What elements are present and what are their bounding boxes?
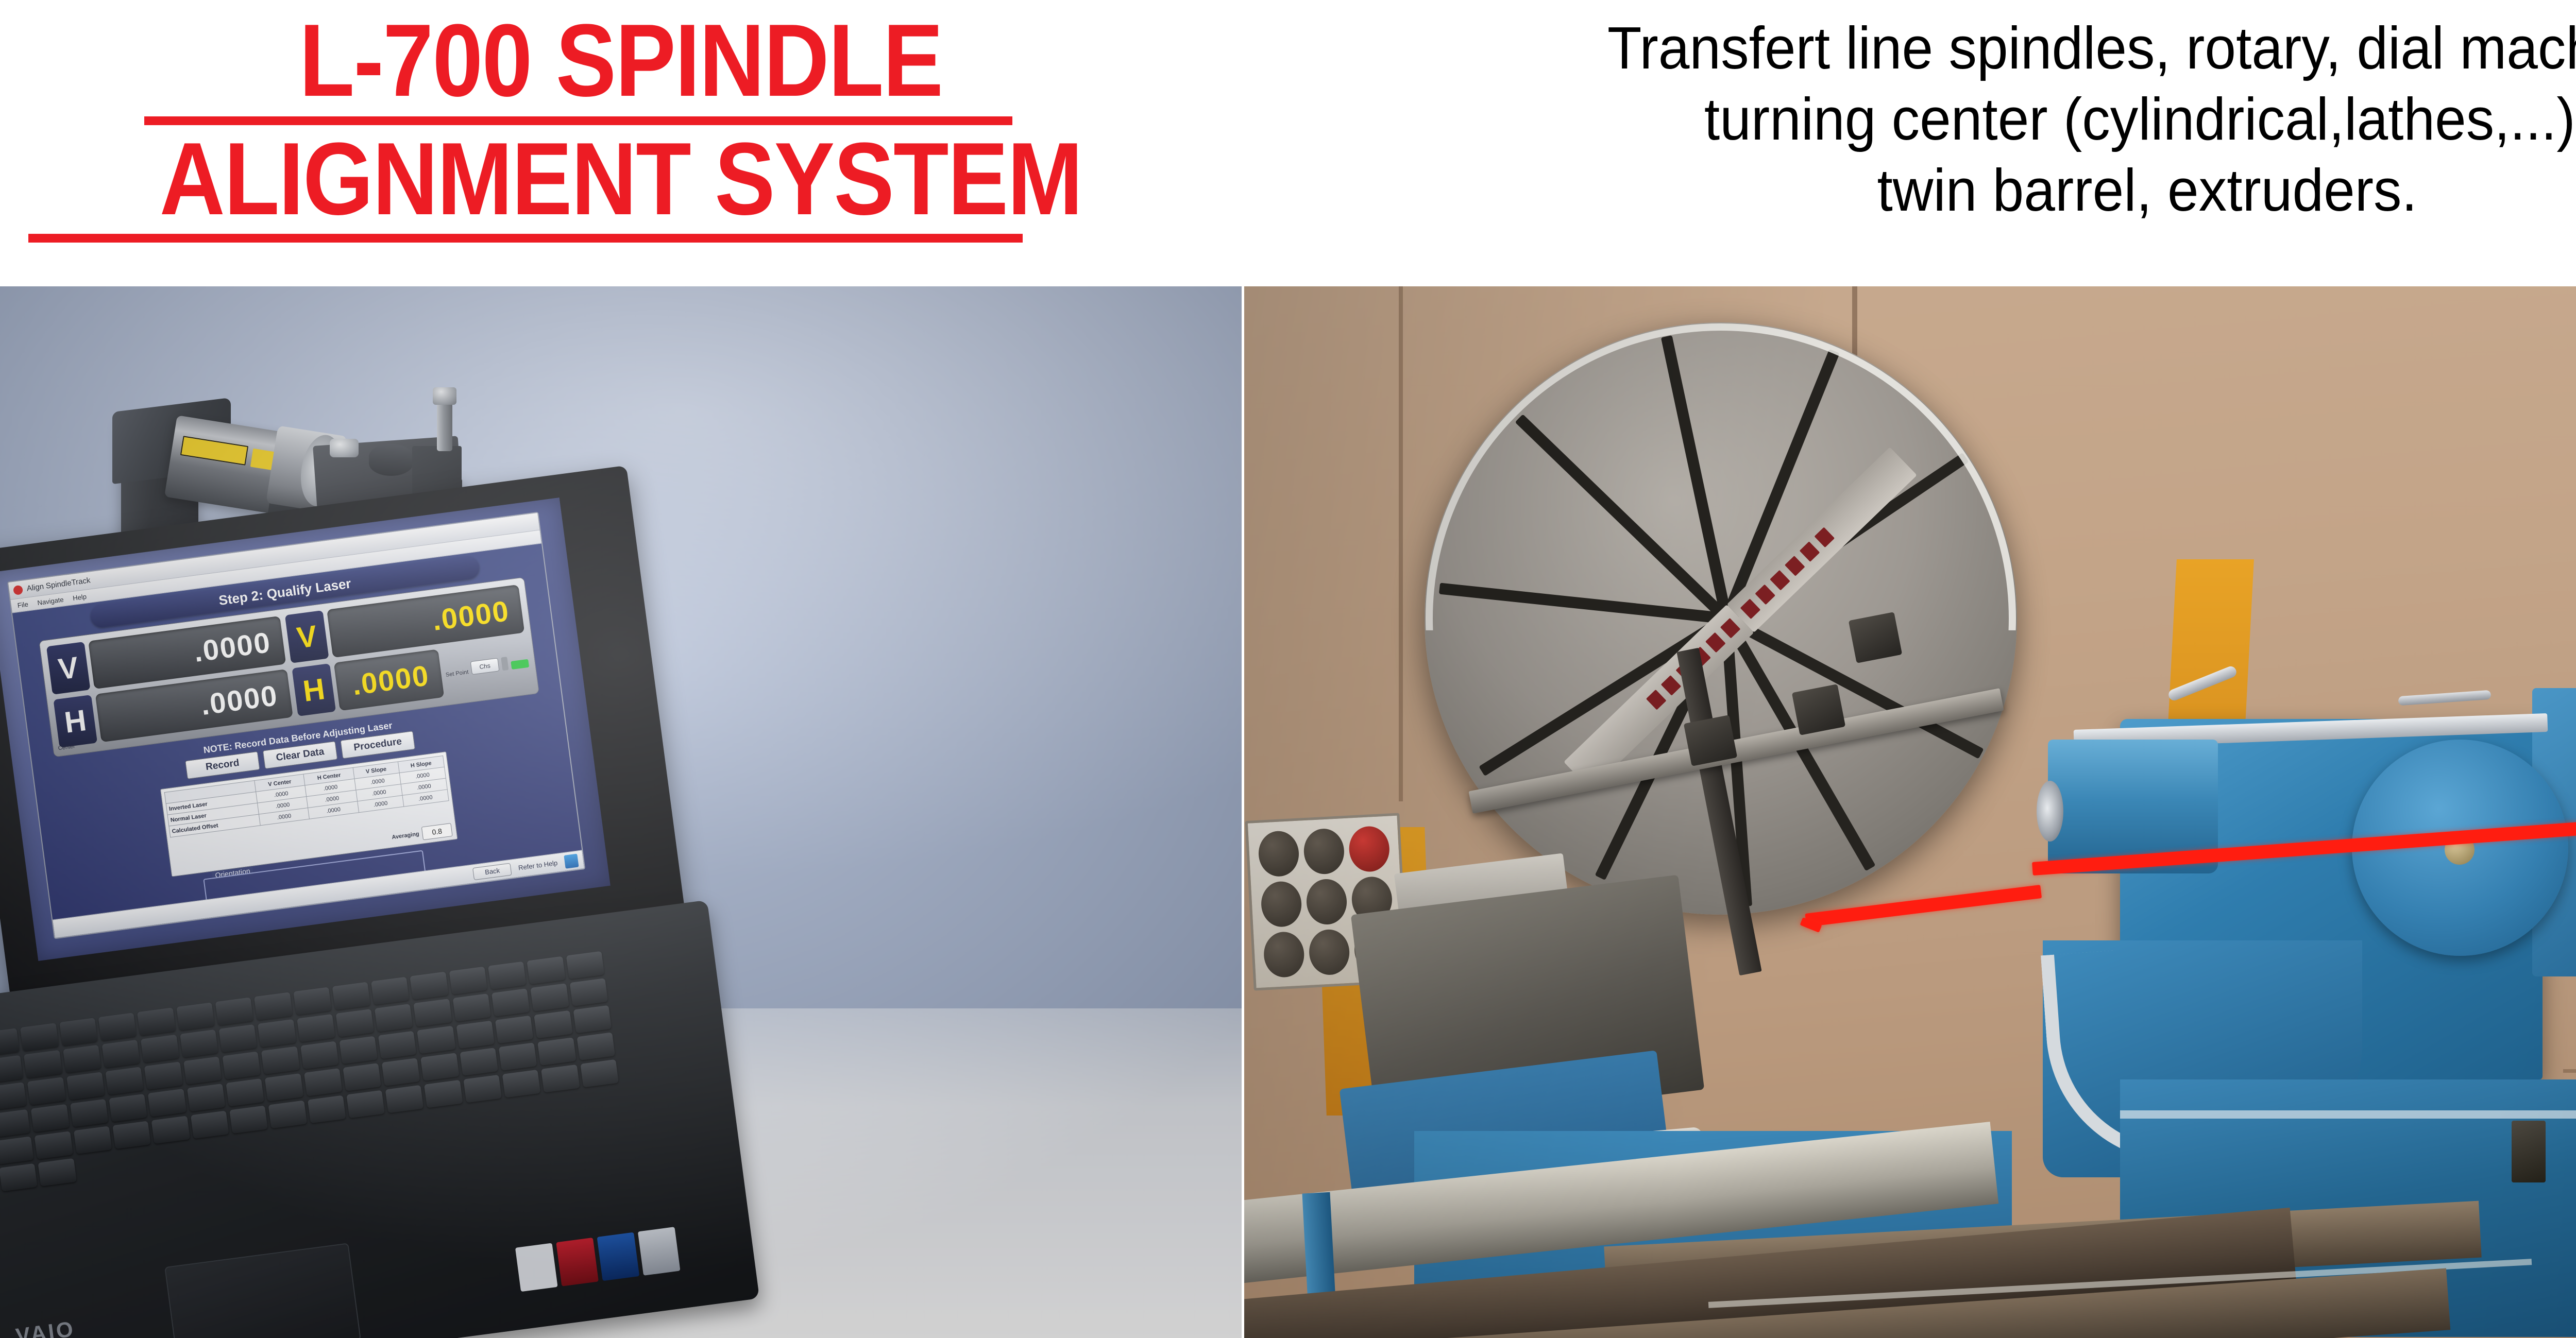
photo-shading-overlay [1244, 286, 2576, 1338]
studio-vignette [0, 286, 1242, 1338]
product-photo-left: Align SpindleTrack File Navigate Help St… [0, 286, 1242, 1338]
application-photo-right [1244, 286, 2576, 1338]
header-band: L-700 SPINDLE ALIGNMENT SYSTEM Transfert… [0, 0, 2576, 286]
subtitle-line-2: turning center (cylindrical,lathes,...), [1704, 83, 2576, 155]
subtitle-line-3: twin barrel, extruders. [1877, 155, 2417, 226]
title-underline-2 [28, 234, 1023, 243]
page-title-line-2: ALIGNMENT SYSTEM [75, 128, 1167, 231]
subtitle-line-1: Transfert line spindles, rotary, dial ma… [1607, 12, 2576, 83]
poster-page: L-700 SPINDLE ALIGNMENT SYSTEM Transfert… [0, 0, 2576, 1338]
photo-strip: Align SpindleTrack File Navigate Help St… [0, 286, 2576, 1338]
subtitle-block: Transfert line spindles, rotary, dial ma… [1252, 3, 2576, 281]
title-block: L-700 SPINDLE ALIGNMENT SYSTEM [0, 4, 1242, 282]
page-title-line-1: L-700 SPINDLE [75, 9, 1167, 112]
